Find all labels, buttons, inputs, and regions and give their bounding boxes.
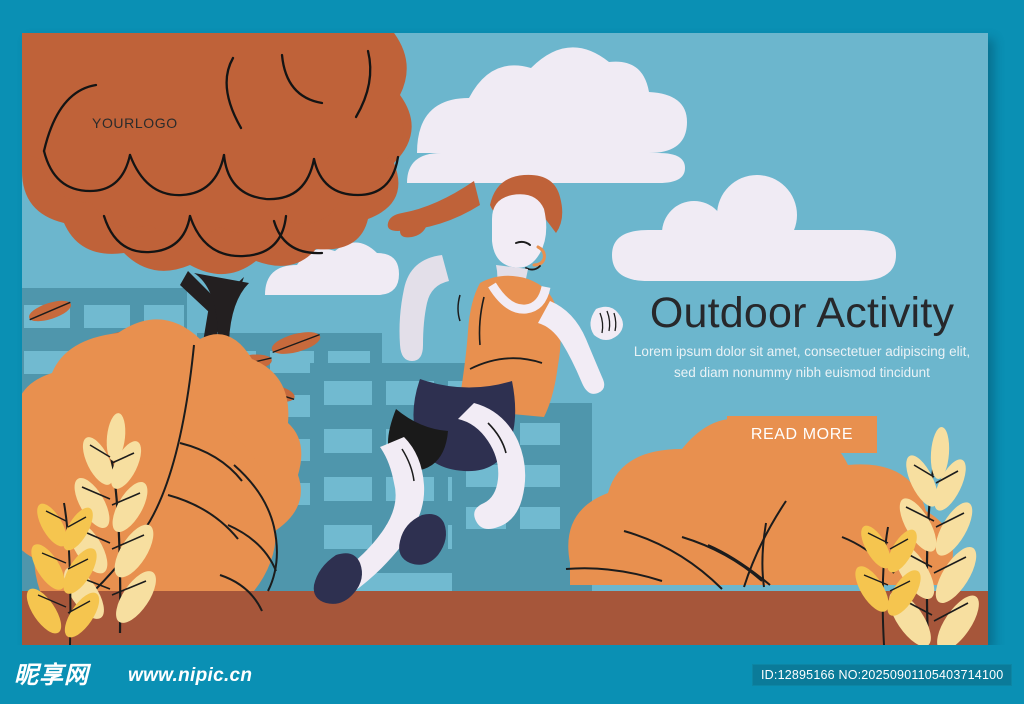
watermark-brand-cn: 昵享网 <box>14 662 89 688</box>
bush-left <box>22 319 301 611</box>
page-root: YOURLOGO Outdoor Activity Lorem ipsum do… <box>0 0 1024 704</box>
ground-strip <box>22 591 988 645</box>
page-title: Outdoor Activity <box>622 288 982 338</box>
asset-id-badge: ID:12895166 NO:20250901105403714100 <box>752 664 1012 686</box>
brand-logo[interactable]: YOURLOGO <box>92 115 178 131</box>
page-subtitle: Lorem ipsum dolor sit amet, consectetuer… <box>622 341 982 383</box>
banner-canvas: YOURLOGO Outdoor Activity Lorem ipsum do… <box>22 33 988 645</box>
read-more-button[interactable]: READ MORE <box>727 416 877 453</box>
watermark-url: www.nipic.cn <box>128 665 252 687</box>
